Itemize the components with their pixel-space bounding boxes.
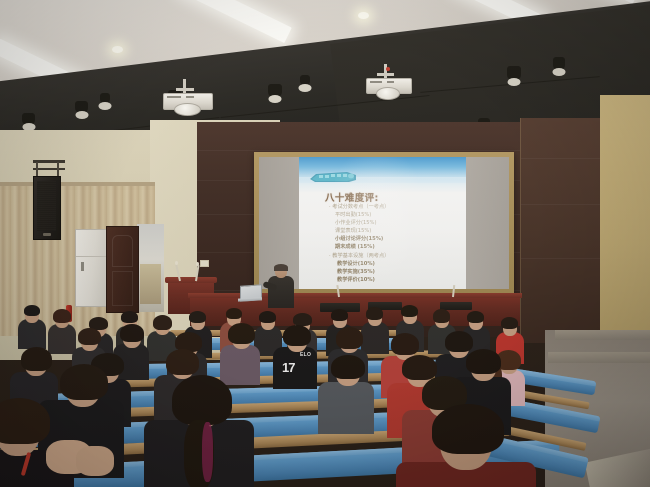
projector-left (163, 93, 211, 115)
slide-bullet-3: 小作业评分(15%) (335, 219, 377, 226)
slide-bullet-1: · 考试分数考点（一考点） (329, 203, 389, 210)
screen-unlit-right (466, 157, 509, 289)
slide-bullet-7: · 教学基本设施（两考点） (329, 252, 389, 259)
downlight-icon-left (112, 46, 123, 53)
jersey-number: 17 (282, 360, 294, 375)
projector-right (366, 78, 410, 100)
projected-slide: 八十难度评: · 考试分数考点（一考点） 平时出勤(15%) 小作业评分(15%… (299, 157, 466, 289)
downlight-icon-right (358, 12, 369, 19)
track-light-1 (22, 113, 35, 125)
jersey-wordmark: ELO (300, 352, 311, 358)
track-light-7 (507, 66, 521, 80)
slide-bullet-8: 教学设计(10%) (337, 260, 375, 267)
slide-title: 八十难度评: (325, 190, 379, 204)
presenter (268, 265, 294, 307)
track-light-2 (75, 101, 88, 113)
slide-bullet-9: 教学实施(35%) (337, 268, 375, 275)
slide-bullet-10: 教学评价(10%) (337, 276, 375, 283)
slide-bullet-6: 期末成绩 (15%) (335, 243, 375, 250)
aisle-step-1 (555, 330, 650, 340)
microphone-right-head (196, 262, 199, 266)
wall-right-tan (600, 95, 650, 345)
projection-screen-surface: 八十难度评: · 考试分数考点（一考点） 平时出勤(15%) 小作业评分(15%… (259, 157, 509, 289)
slide-bullet-4: 课堂表现(15%) (335, 227, 371, 234)
slide-bullet-5: 小组讨论评分(15%) (335, 235, 383, 242)
train-illustration-icon (307, 170, 359, 185)
wooden-door[interactable] (106, 226, 139, 313)
track-light-8 (553, 57, 565, 70)
wall-switch-plate[interactable] (200, 260, 209, 267)
microphone-left-head (175, 261, 178, 265)
track-light-5 (268, 84, 282, 97)
track-light-6 (300, 75, 310, 86)
open-doorway[interactable] (137, 224, 164, 312)
track-light-3 (100, 93, 110, 104)
aisle-step-2 (548, 352, 650, 363)
lecture-hall-photo: 八十难度评: · 考试分数考点（一考点） 平时出勤(15%) 小作业评分(15%… (0, 0, 650, 487)
slide-bullet-2: 平时出勤(15%) (335, 211, 371, 218)
white-cabinet[interactable] (75, 229, 107, 307)
wall-speaker (33, 176, 61, 240)
